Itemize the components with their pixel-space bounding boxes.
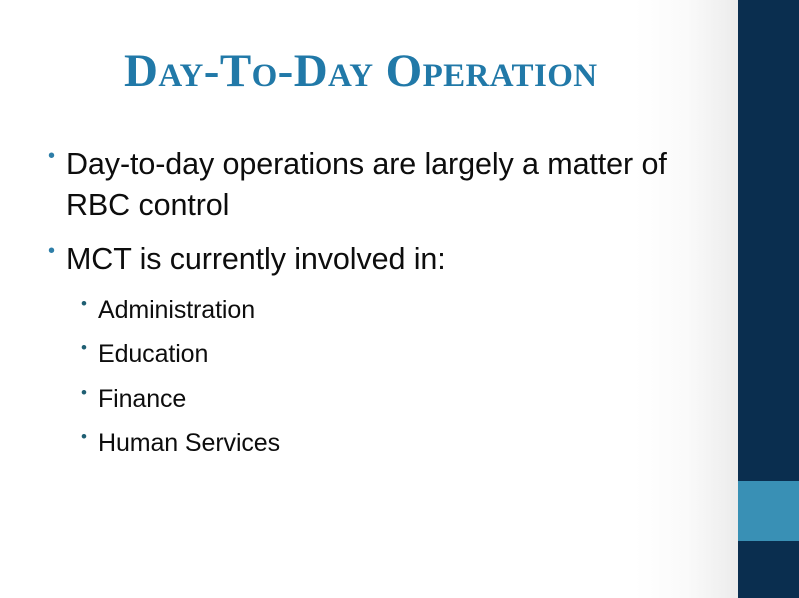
sidebar-decoration-accent (738, 481, 799, 541)
sub-bullet-marker-icon: • (81, 338, 98, 348)
sub-bullet-item: • Administration (81, 294, 708, 327)
bullet-item: • MCT is currently involved in: (48, 239, 708, 280)
sub-bullet-marker-icon: • (81, 294, 98, 304)
bullet-text: Day-to-day operations are largely a matt… (66, 144, 708, 225)
sub-bullet-list: • Administration • Education • Finance •… (81, 294, 708, 460)
presentation-slide: Day-To-Day Operation • Day-to-day operat… (0, 0, 799, 598)
sub-bullet-item: • Human Services (81, 427, 708, 460)
sub-bullet-text: Administration (98, 294, 708, 327)
sub-bullet-text: Education (98, 338, 708, 371)
bullet-item: • Day-to-day operations are largely a ma… (48, 144, 708, 225)
bullet-text: MCT is currently involved in: (66, 239, 708, 280)
sub-bullet-item: • Finance (81, 383, 708, 416)
slide-title: Day-To-Day Operation (124, 47, 598, 96)
sub-bullet-item: • Education (81, 338, 708, 371)
sub-bullet-marker-icon: • (81, 427, 98, 437)
bullet-marker-icon: • (48, 239, 66, 251)
slide-body: • Day-to-day operations are largely a ma… (48, 144, 708, 472)
sub-bullet-marker-icon: • (81, 383, 98, 393)
bullet-marker-icon: • (48, 144, 66, 156)
sub-bullet-text: Human Services (98, 427, 708, 460)
sub-bullet-text: Finance (98, 383, 708, 416)
